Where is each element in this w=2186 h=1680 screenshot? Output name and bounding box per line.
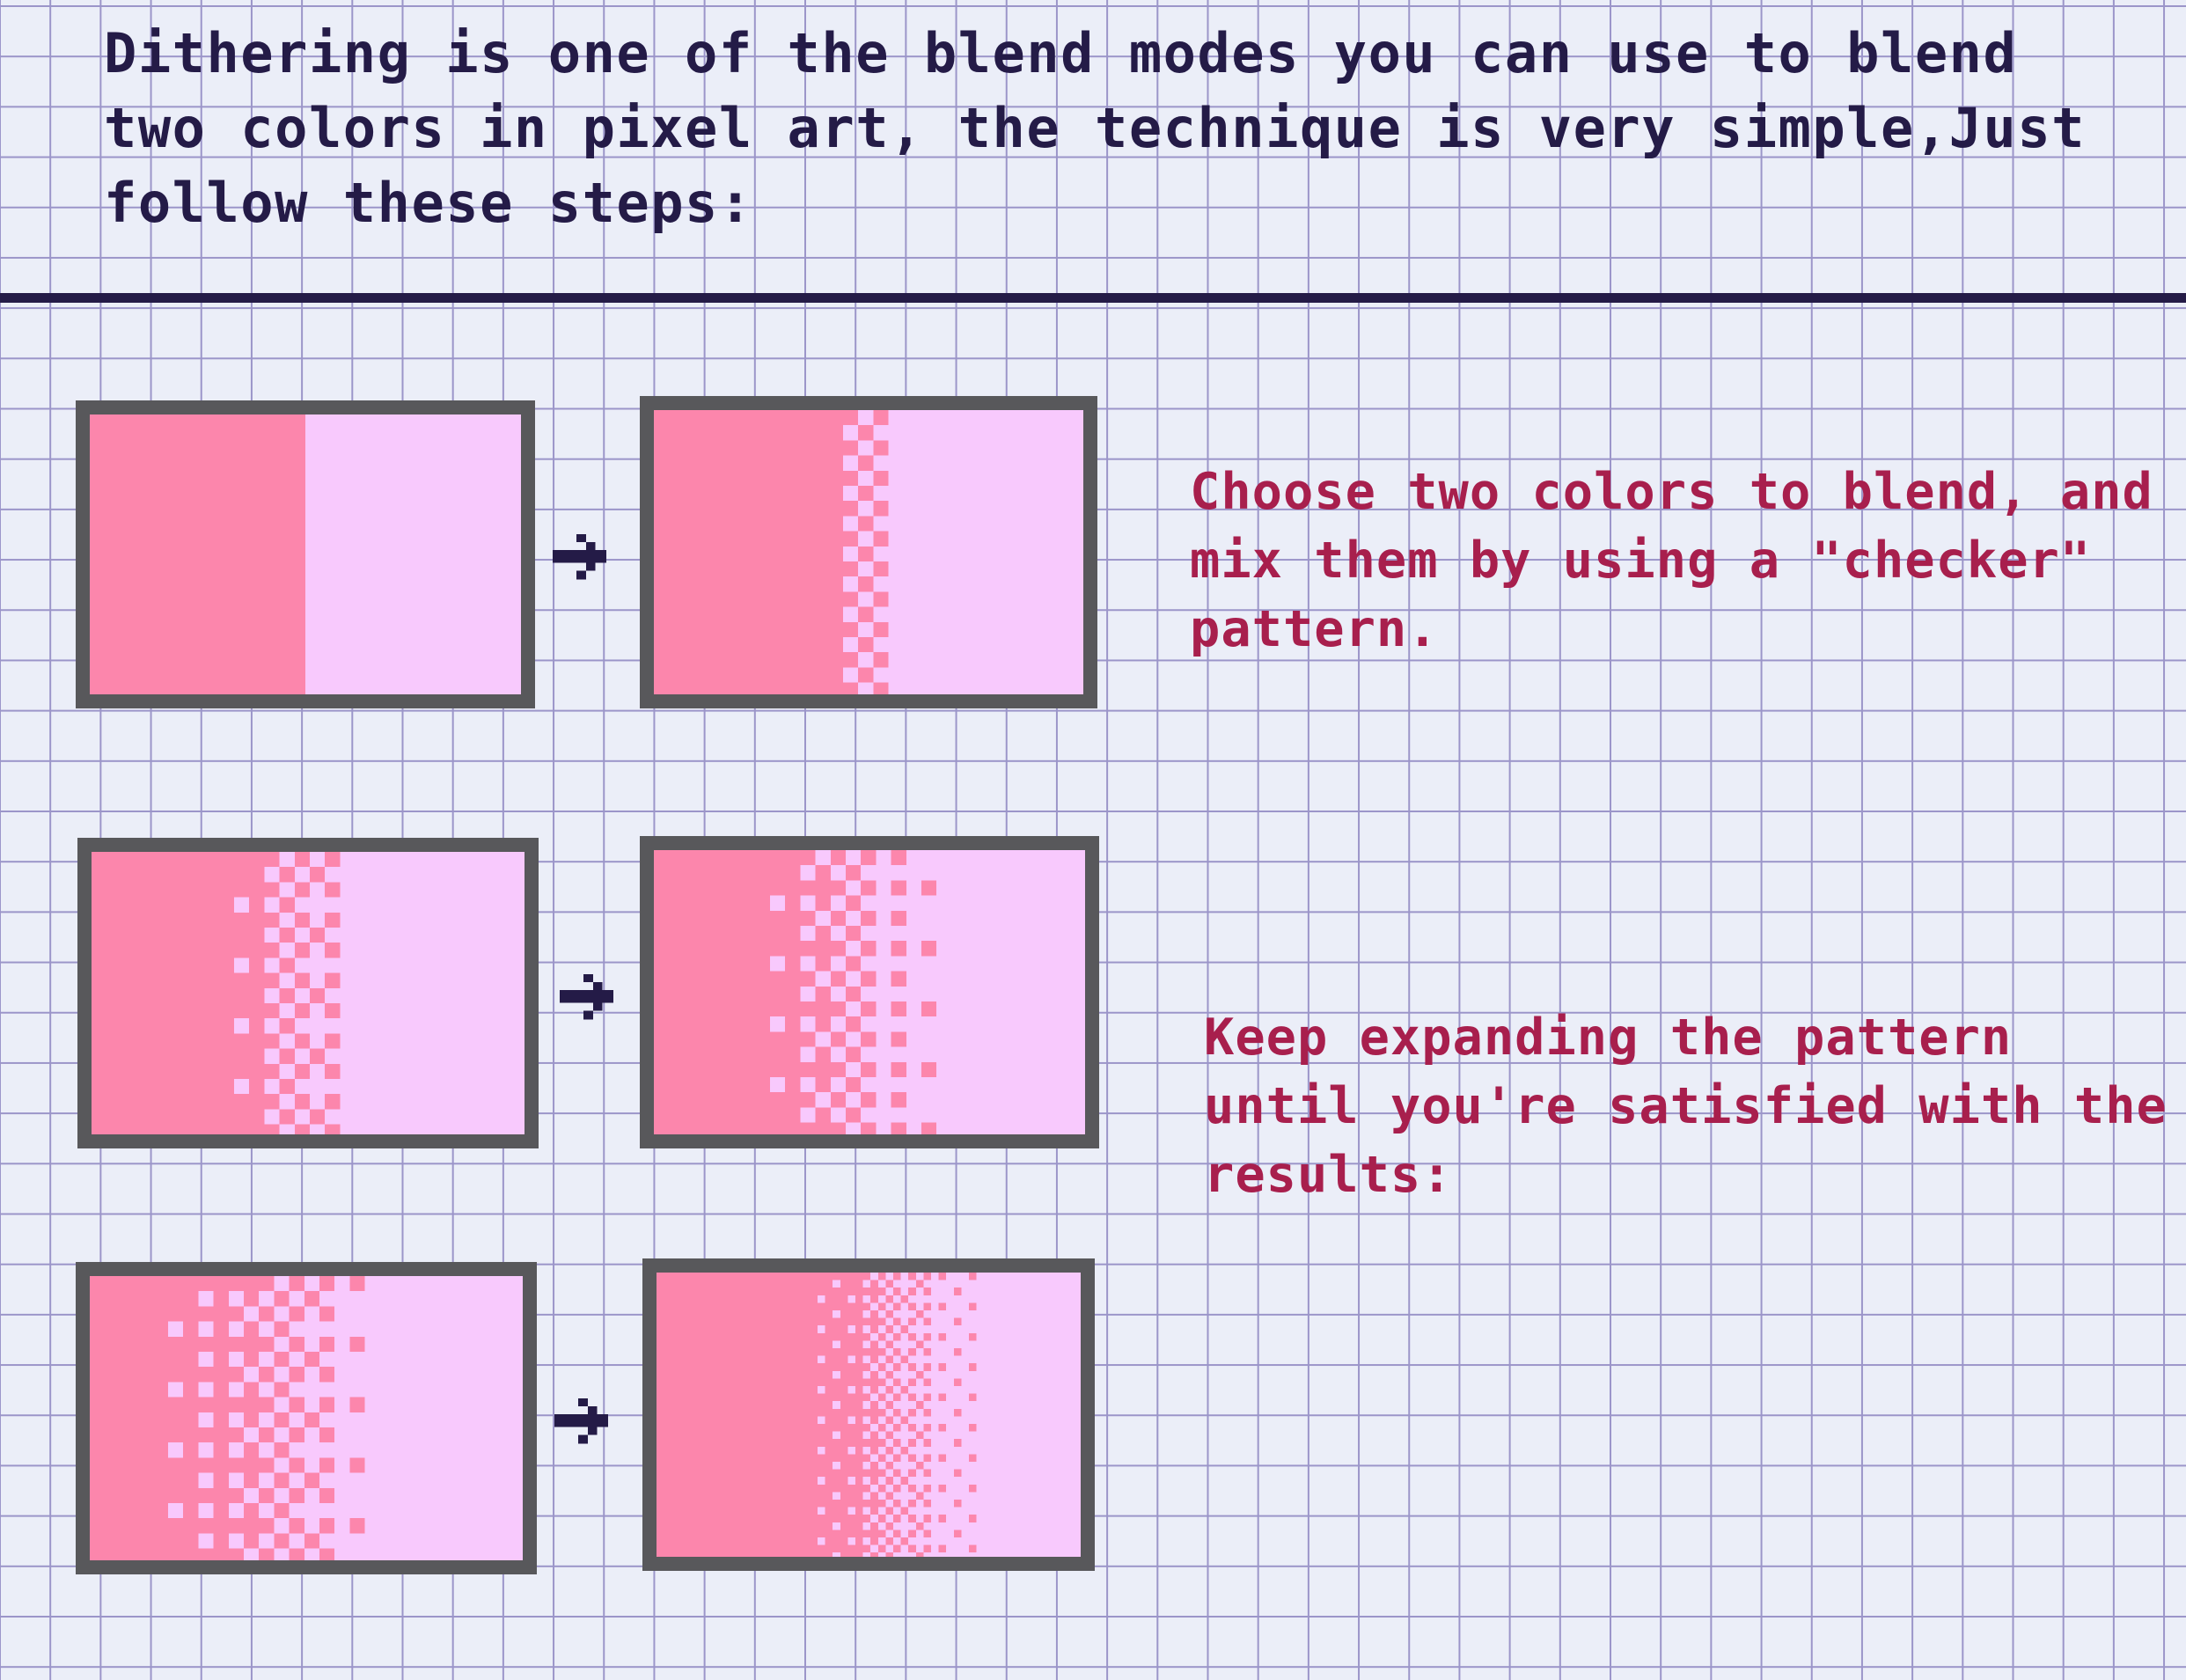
dither-band xyxy=(168,1276,410,1560)
dither-panel xyxy=(77,838,539,1148)
panel-canvas xyxy=(654,410,1083,694)
solid-color-a-region xyxy=(90,414,305,694)
dither-band-wrapper xyxy=(770,850,951,1134)
panel-canvas xyxy=(92,852,524,1134)
dither-panel xyxy=(640,836,1099,1148)
dither-panel xyxy=(640,396,1097,708)
dither-panel xyxy=(76,400,535,708)
header-paragraph: Dithering is one of the blend modes you … xyxy=(104,16,2128,240)
solid-color-a-region xyxy=(654,850,770,1134)
caption-choose-two-colors: Choose two colors to blend, and mix them… xyxy=(1190,458,2184,664)
dither-band xyxy=(770,850,951,1134)
arrow-right-icon xyxy=(554,1390,634,1454)
caption-keep-expanding: Keep expanding the pattern until you're … xyxy=(1204,1003,2172,1209)
arrow-right-icon xyxy=(560,966,639,1030)
dither-band xyxy=(234,852,356,1134)
dither-band-wrapper xyxy=(234,852,356,1134)
dither-panel xyxy=(642,1258,1095,1571)
arrow-right-icon xyxy=(553,526,632,590)
dither-band xyxy=(843,410,904,694)
panel-canvas xyxy=(657,1273,1081,1557)
dither-band-wrapper xyxy=(843,410,904,694)
panel-canvas xyxy=(90,414,521,694)
dither-band-wrapper xyxy=(168,1276,410,1560)
solid-color-a-region xyxy=(92,852,234,1134)
header-divider-rule xyxy=(0,293,2186,303)
solid-color-a-region xyxy=(654,410,843,694)
panel-canvas xyxy=(90,1276,523,1560)
panel-canvas xyxy=(654,850,1085,1134)
dither-band xyxy=(818,1273,999,1557)
dither-panel xyxy=(76,1262,537,1574)
solid-color-a-region xyxy=(657,1273,818,1557)
dither-band-wrapper xyxy=(818,1273,999,1557)
solid-color-a-region xyxy=(90,1276,168,1560)
